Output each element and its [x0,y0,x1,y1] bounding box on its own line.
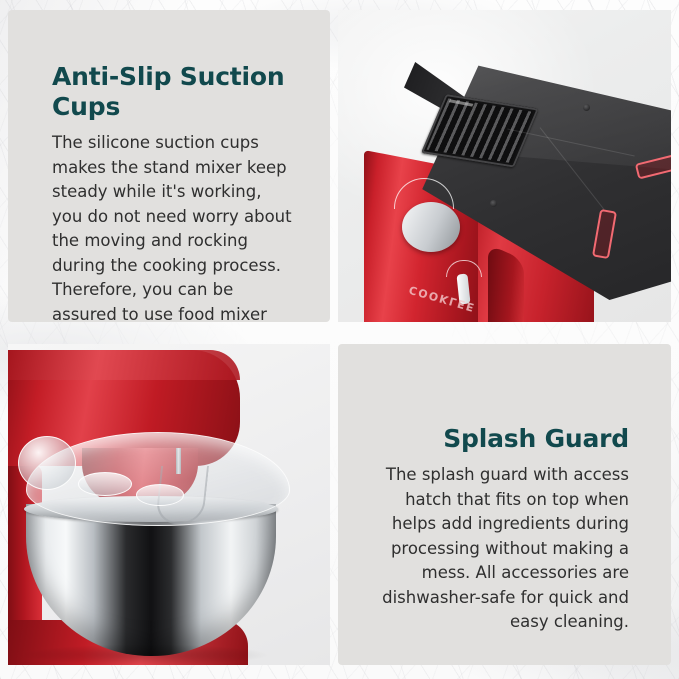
panel-anti-slip-suction-cups: Anti-Slip Suction Cups The silicone suct… [8,10,330,322]
speed-dial-knob[interactable] [402,202,460,252]
mixer-bowl-image [8,344,330,665]
splash-guard-headline: Splash Guard [360,424,649,454]
anti-slip-text-block: Anti-Slip Suction Cups The silicone suct… [8,62,330,322]
panel-splash-guard: Splash Guard The splash guard with acces… [338,344,671,665]
splash-guard-detail [136,484,184,506]
photo-mixer-splash-guard [8,344,330,665]
base-screw [490,200,497,207]
mixer-underside-image: COOKLEE [338,10,671,322]
splash-guard-detail [78,472,132,496]
product-shadow [20,644,270,665]
splash-guard-access-hatch [18,436,76,490]
splash-guard-text-block: Splash Guard The splash guard with acces… [338,424,671,635]
photo-mixer-underside: COOKLEE [338,10,671,322]
mixer-head-highlight [8,350,240,380]
anti-slip-body-text: The silicone suction cups makes the stan… [30,131,308,322]
anti-slip-headline: Anti-Slip Suction Cups [30,62,308,122]
base-screw [583,104,590,111]
splash-guard-body-text: The splash guard with access hatch that … [360,463,649,635]
